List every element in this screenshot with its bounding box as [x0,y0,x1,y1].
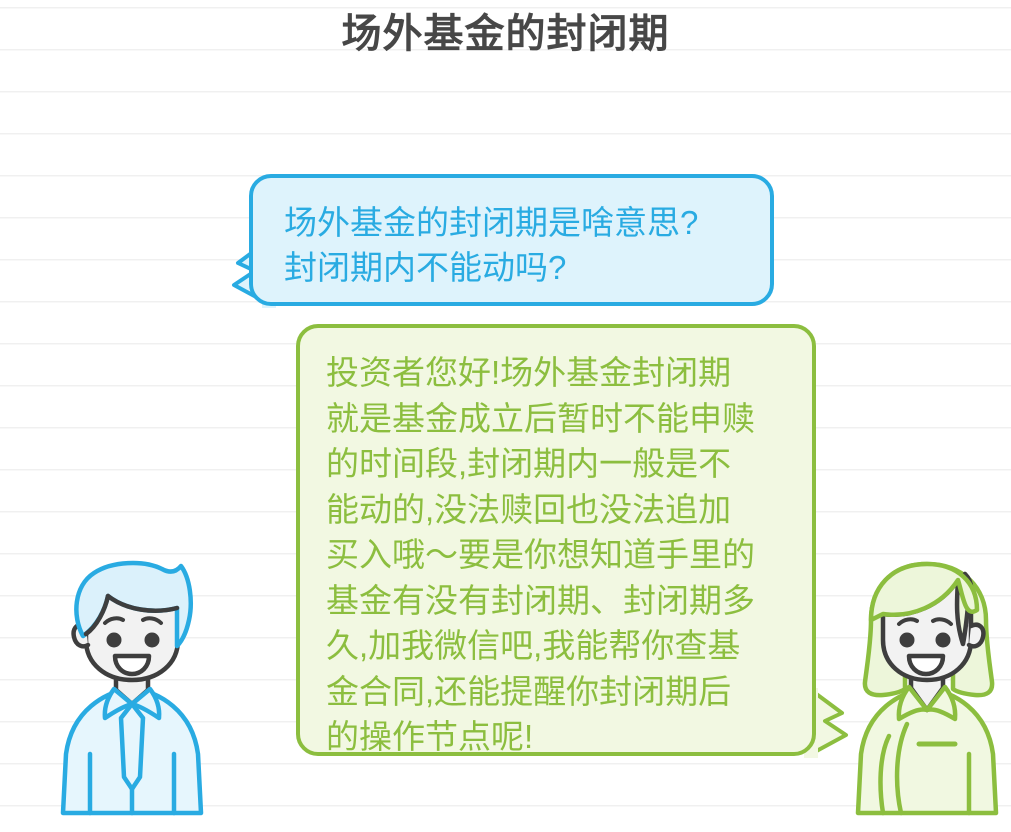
investor-man-avatar [50,558,215,820]
woman-ear [969,625,983,647]
man-mouth [115,656,149,674]
page-title: 场外基金的封闭期 [0,11,1011,57]
question-speech-bubble: 场外基金的封闭期是啥意思? 封闭期内不能动吗? [249,174,774,306]
answer-text: 投资者您好!场外基金封闭期 就是基金成立后暂时不能申赎 的时间段,封闭期内一般是… [326,350,794,760]
woman-eye-left [900,633,915,648]
man-eye-left [107,633,122,648]
advisor-woman-avatar [845,558,1010,820]
man-tie [121,704,143,789]
man-eye-right [145,633,160,648]
answer-speech-bubble: 投资者您好!场外基金封闭期 就是基金成立后暂时不能申赎 的时间段,封闭期内一般是… [296,324,816,756]
illustration-canvas: 场外基金的封闭期 场外基金的封闭期是啥意思? 封闭期内不能动吗? 投资者您好!场… [0,0,1011,832]
question-text: 场外基金的封闭期是啥意思? 封闭期内不能动吗? [284,200,754,290]
woman-mouth [909,656,943,674]
woman-eye-right [936,633,951,648]
